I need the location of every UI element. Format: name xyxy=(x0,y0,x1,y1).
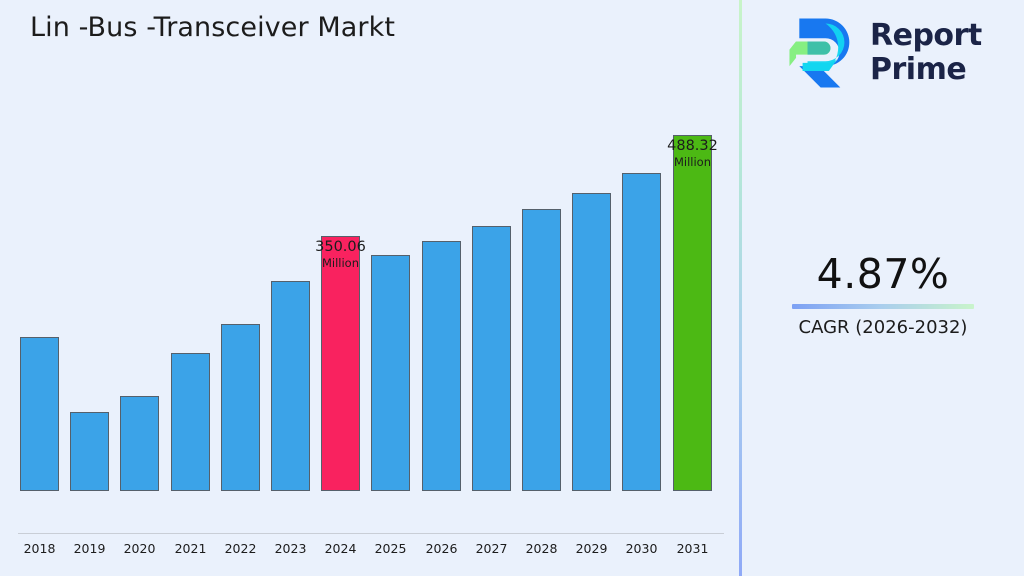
cagr-value: 4.87% xyxy=(742,250,1024,298)
x-tick-label-2031: 2031 xyxy=(663,541,722,556)
bar-2029[interactable] xyxy=(572,193,611,491)
bar-chart-plot: 2018201920202021202220232024350.06Millio… xyxy=(0,0,740,534)
bar-2031[interactable] xyxy=(673,135,712,491)
chart-panel: Lin -Bus -Transceiver Markt 201820192020… xyxy=(0,0,740,576)
page-root: Lin -Bus -Transceiver Markt 201820192020… xyxy=(0,0,1024,576)
report-prime-logo-icon xyxy=(778,12,860,94)
bar-2030[interactable] xyxy=(622,173,661,491)
logo-wordmark: Report Prime xyxy=(870,19,982,87)
bar-2023[interactable] xyxy=(271,281,310,491)
x-axis-line xyxy=(18,533,724,534)
logo-word-prime: Prime xyxy=(870,53,982,87)
bar-2018[interactable] xyxy=(20,337,59,491)
bar-2026[interactable] xyxy=(422,241,461,491)
bar-2021[interactable] xyxy=(171,353,210,491)
bar-2019[interactable] xyxy=(70,412,109,491)
cagr-divider-rule xyxy=(792,304,974,309)
bar-2020[interactable] xyxy=(120,396,159,491)
cagr-block: 4.87% CAGR (2026-2032) xyxy=(742,250,1024,340)
brand-panel: Report Prime 4.87% CAGR (2026-2032) xyxy=(742,0,1024,576)
report-prime-logo[interactable]: Report Prime xyxy=(778,12,982,94)
bar-2024[interactable] xyxy=(321,236,360,491)
cagr-caption: CAGR (2026-2032) xyxy=(742,316,1024,340)
bar-2028[interactable] xyxy=(522,209,561,491)
bar-2027[interactable] xyxy=(472,226,511,491)
bar-2022[interactable] xyxy=(221,324,260,491)
logo-word-report: Report xyxy=(870,19,982,53)
bar-2025[interactable] xyxy=(371,255,410,491)
